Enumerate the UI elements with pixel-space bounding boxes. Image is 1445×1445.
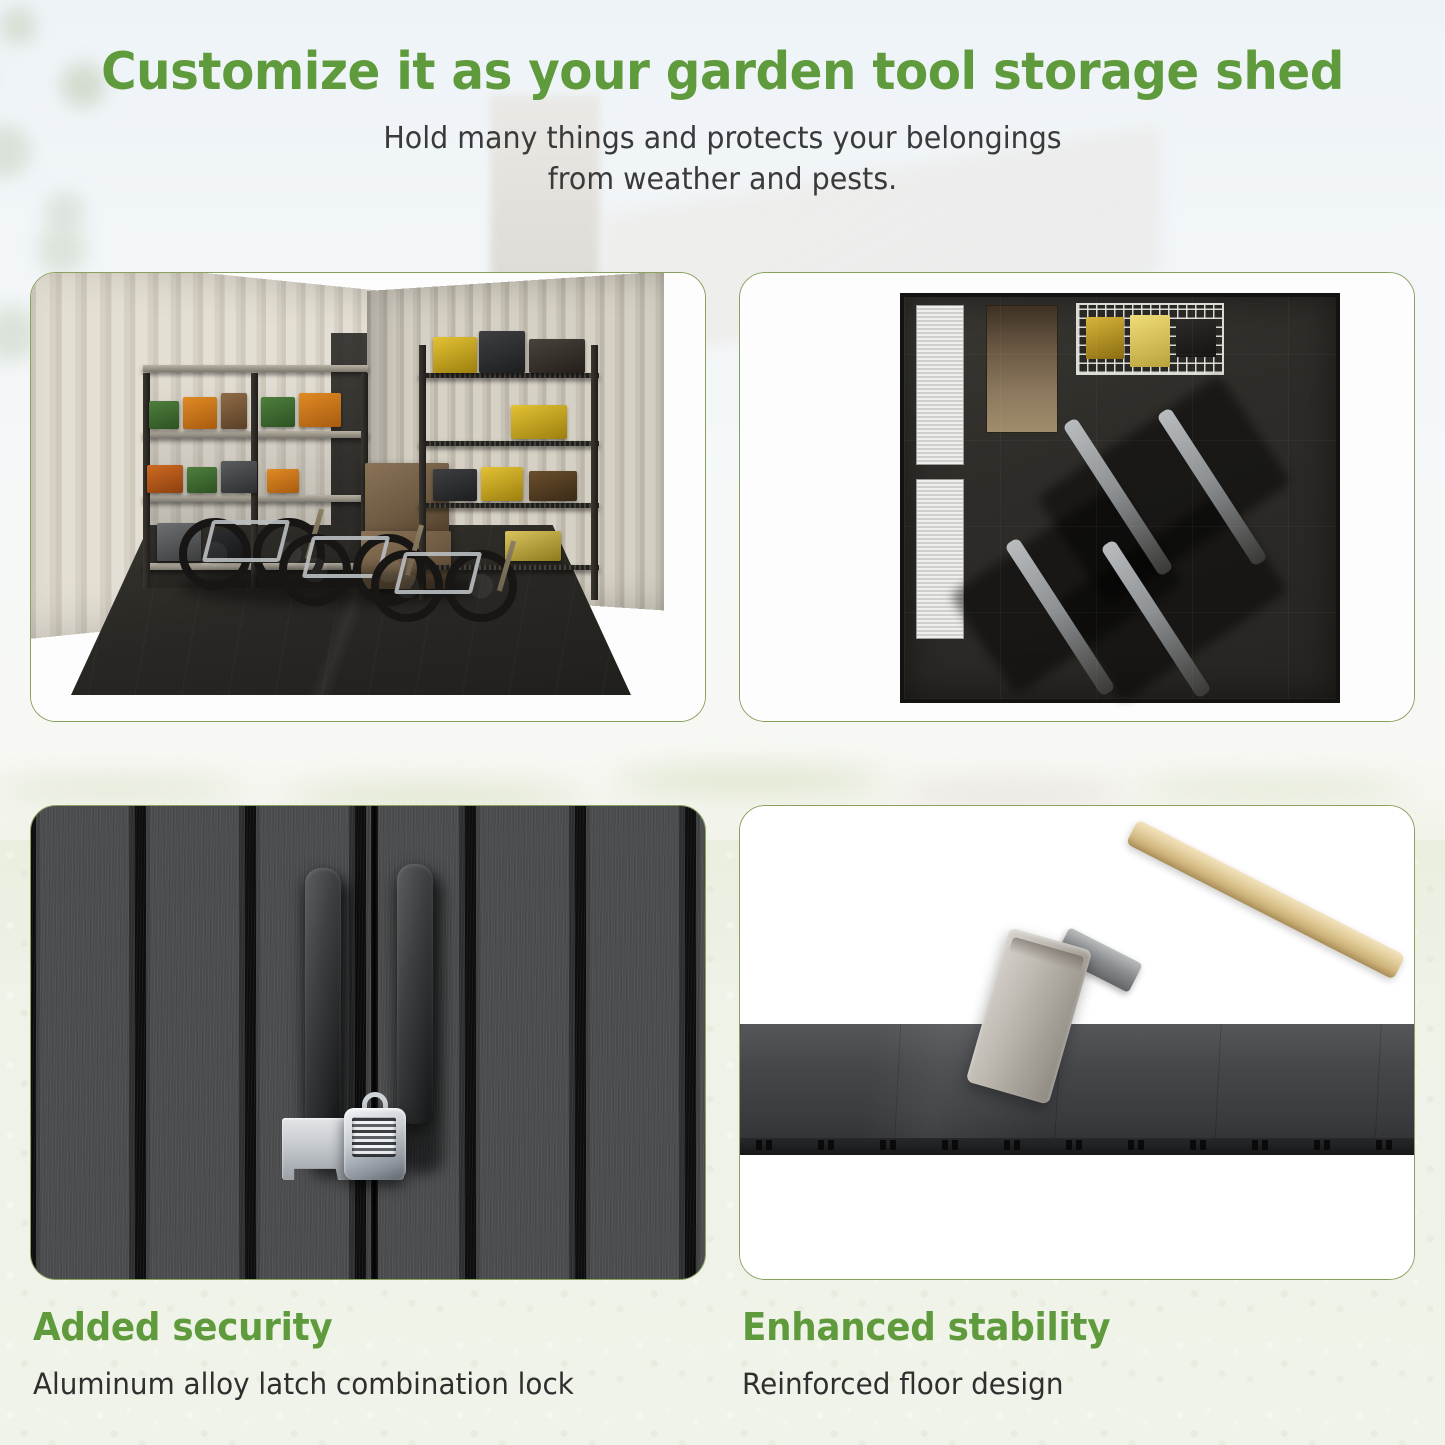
subheadline-line-2: from weather and pests. <box>36 159 1409 200</box>
tool-case <box>529 471 577 501</box>
door-lock-image <box>31 806 705 1279</box>
floor-panel <box>740 1024 1414 1146</box>
tool-chest <box>529 339 585 373</box>
bike-shadow <box>1056 491 1289 702</box>
hammer-handle <box>1126 819 1406 979</box>
caption-subtitle: Aluminum alloy latch combination lock <box>33 1349 574 1401</box>
storage-crate <box>183 397 217 429</box>
caption-title: Enhanced stability <box>742 1305 1110 1349</box>
tool-case <box>1086 317 1124 359</box>
shed-door-surface <box>31 806 705 1279</box>
caption-subtitle: Reinforced floor design <box>742 1349 1118 1401</box>
page-headline: Customize it as your garden tool storage… <box>51 0 1395 100</box>
shed-interior-image <box>31 273 705 721</box>
panel-shed-interior <box>30 272 706 722</box>
product-feature-poster: Customize it as your garden tool storage… <box>0 0 1445 1445</box>
storage-crate <box>147 465 183 493</box>
panel-reinforced-floor <box>739 805 1415 1280</box>
bike-shadow <box>950 483 1183 694</box>
subheadline-line-1: Hold many things and protects your belon… <box>36 118 1409 159</box>
cardboard-box-stack <box>986 305 1058 433</box>
combination-lock-body[interactable] <box>344 1108 406 1180</box>
storage-bin <box>433 469 477 501</box>
storage-crate <box>261 397 295 427</box>
bike-shadow <box>1036 375 1291 606</box>
wire-shelf <box>419 503 599 508</box>
shed-top-down-image <box>740 273 1414 721</box>
caption-title: Added security <box>33 1305 563 1349</box>
wire-shelf <box>419 373 599 378</box>
mountain-bike <box>371 517 521 622</box>
yellow-tote <box>511 405 567 439</box>
yellow-tote <box>481 467 523 501</box>
bike-top-view <box>1004 537 1115 697</box>
panel-shed-top-down <box>739 272 1415 722</box>
shelf-board <box>143 365 368 372</box>
shelf-post <box>591 345 598 600</box>
tool-case <box>1176 319 1216 357</box>
storage-crate <box>149 401 179 429</box>
tool-case <box>1130 315 1170 367</box>
caption-added-security: Added security Aluminum alloy latch comb… <box>33 1305 596 1401</box>
door-center-seam <box>371 806 378 1279</box>
door-handle-left[interactable] <box>305 868 341 1128</box>
reinforced-floor-image <box>740 806 1414 1279</box>
panel-door-lock <box>30 805 706 1280</box>
storage-crate <box>221 393 247 429</box>
combination-dials[interactable] <box>352 1117 396 1157</box>
storage-crate <box>299 393 341 427</box>
header: Customize it as your garden tool storage… <box>0 0 1445 200</box>
bike-frame <box>394 552 482 594</box>
shed-floor-plan <box>900 293 1340 703</box>
floor-rib-support <box>740 1138 1414 1155</box>
caption-enhanced-stability: Enhanced stability Reinforced floor desi… <box>742 1305 1134 1401</box>
yellow-tote <box>433 337 477 373</box>
wall-vent-panel <box>916 305 964 465</box>
bike-top-view <box>1156 407 1267 567</box>
wall-vent-panel <box>916 479 964 639</box>
bike-top-view <box>1100 539 1211 699</box>
wire-basket-shelf <box>1076 303 1224 375</box>
bike-frame <box>202 520 290 562</box>
page-subheadline: Hold many things and protects your belon… <box>36 100 1409 201</box>
bike-top-view <box>1062 417 1173 577</box>
storage-bin <box>479 331 525 373</box>
door-handle-right[interactable] <box>397 864 433 1124</box>
wire-shelf <box>419 441 599 446</box>
